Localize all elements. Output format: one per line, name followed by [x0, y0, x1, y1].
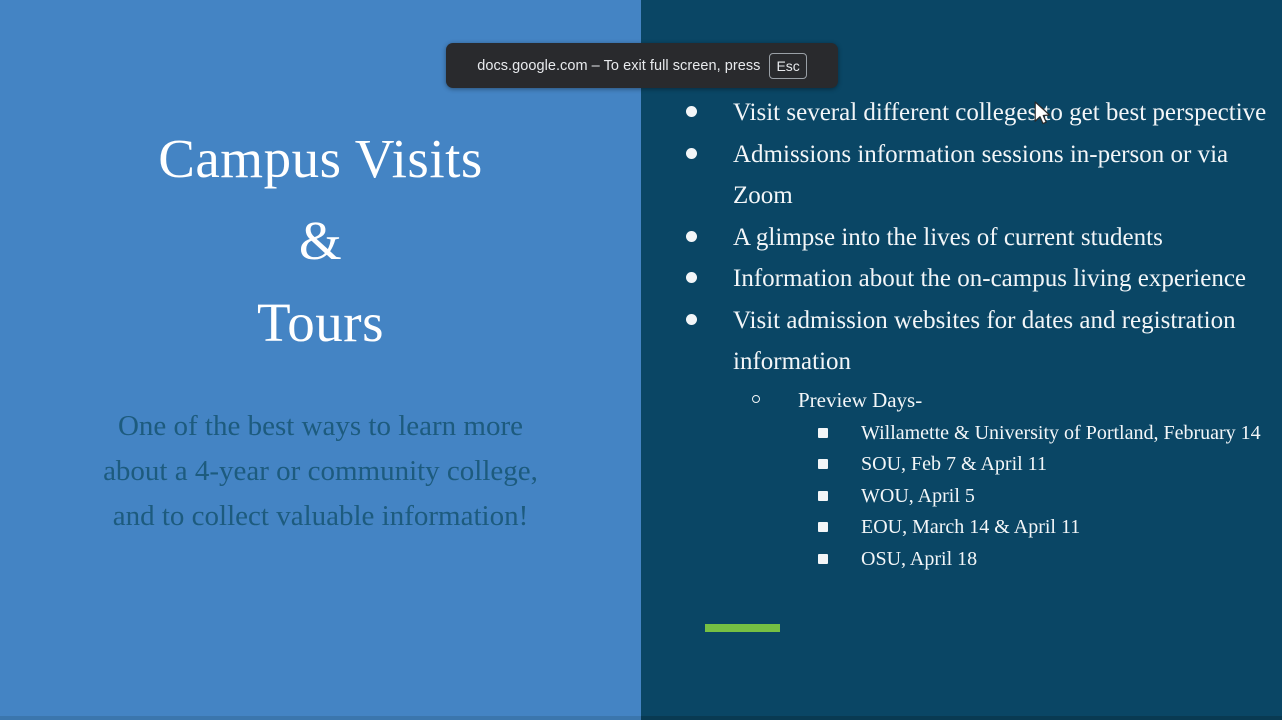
filled-square-bullet-icon	[818, 459, 828, 469]
bullet-item: SOU, Feb 7 & April 11	[641, 449, 1282, 481]
bullet-text: A glimpse into the lives of current stud…	[733, 217, 1282, 259]
bullet-text: EOU, March 14 & April 11	[861, 512, 1282, 544]
fullscreen-toast-message: docs.google.com – To exit full screen, p…	[477, 58, 760, 74]
bullet-text: Preview Days-	[798, 383, 1282, 418]
slide-left-panel: Campus Visits & Tours One of the best wa…	[0, 0, 641, 716]
slide-subtitle: One of the best ways to learn more about…	[40, 404, 601, 539]
filled-circle-bullet-icon	[686, 272, 697, 283]
bullet-item: EOU, March 14 & April 11	[641, 512, 1282, 544]
title-line-2: &	[0, 200, 641, 282]
presentation-slide: Campus Visits & Tours One of the best wa…	[0, 0, 1282, 720]
filled-circle-bullet-icon	[686, 231, 697, 242]
title-line-3: Tours	[0, 282, 641, 364]
filled-square-bullet-icon	[818, 428, 828, 438]
esc-key-badge: Esc	[769, 53, 806, 79]
subtitle-line-1: One of the best ways to learn more	[40, 404, 601, 449]
green-accent-bar	[705, 624, 780, 632]
bullet-text: Visit several different colleges to get …	[733, 92, 1282, 134]
bullet-item: OSU, April 18	[641, 544, 1282, 576]
fullscreen-exit-toast: docs.google.com – To exit full screen, p…	[446, 43, 838, 88]
title-line-1: Campus Visits	[0, 118, 641, 200]
bullet-item: Visit several different colleges to get …	[641, 92, 1282, 134]
slide-title: Campus Visits & Tours	[0, 118, 641, 364]
bullet-text: Information about the on-campus living e…	[733, 258, 1282, 300]
bullet-text: OSU, April 18	[861, 544, 1282, 576]
bullet-text: SOU, Feb 7 & April 11	[861, 449, 1282, 481]
slide-right-panel: Visit several different colleges to get …	[641, 0, 1282, 716]
bullet-item: Willamette & University of Portland, Feb…	[641, 418, 1282, 450]
bullet-text: Willamette & University of Portland, Feb…	[861, 418, 1282, 450]
bullet-list: Visit several different colleges to get …	[641, 92, 1282, 575]
bullet-text: WOU, April 5	[861, 481, 1282, 513]
hollow-circle-bullet-icon	[752, 395, 760, 403]
bullet-item: WOU, April 5	[641, 481, 1282, 513]
filled-circle-bullet-icon	[686, 106, 697, 117]
bottom-letterbox-strip-left	[0, 716, 641, 720]
bullet-item: A glimpse into the lives of current stud…	[641, 217, 1282, 259]
filled-square-bullet-icon	[818, 491, 828, 501]
bullet-item: Admissions information sessions in-perso…	[641, 134, 1282, 217]
filled-square-bullet-icon	[818, 554, 828, 564]
bullet-text: Visit admission websites for dates and r…	[733, 300, 1282, 383]
filled-circle-bullet-icon	[686, 314, 697, 325]
bullet-item: Information about the on-campus living e…	[641, 258, 1282, 300]
filled-square-bullet-icon	[818, 522, 828, 532]
bullet-item: Visit admission websites for dates and r…	[641, 300, 1282, 383]
subtitle-line-3: and to collect valuable information!	[40, 494, 601, 539]
filled-circle-bullet-icon	[686, 148, 697, 159]
bullet-text: Admissions information sessions in-perso…	[733, 134, 1282, 217]
bullet-item: Preview Days-	[641, 383, 1282, 418]
subtitle-line-2: about a 4-year or community college,	[40, 449, 601, 494]
